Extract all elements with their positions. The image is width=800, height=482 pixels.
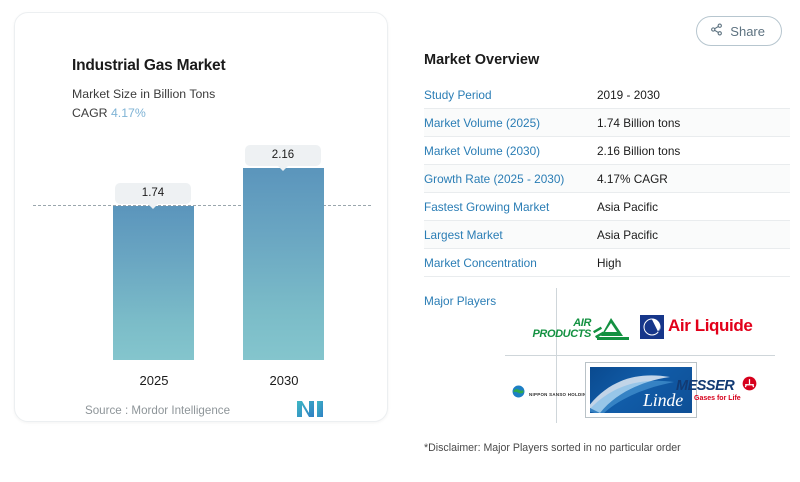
row-label: Study Period <box>424 88 597 102</box>
table-row: Growth Rate (2025 - 2030) 4.17% CAGR <box>424 165 790 193</box>
air-products-mountain-icon <box>593 316 633 347</box>
row-value: 4.17% CAGR <box>597 172 668 186</box>
table-row: Market Concentration High <box>424 249 790 277</box>
source-label: Source : <box>85 404 128 417</box>
table-row: Largest Market Asia Pacific <box>424 221 790 249</box>
bar-value-label-2030: 2.16 <box>245 145 321 166</box>
logo-air-products: AIR PRODUCTS <box>513 312 635 348</box>
bar-2025[interactable] <box>113 206 194 360</box>
nippon-sanso-globe-icon <box>512 385 525 403</box>
row-label: Growth Rate (2025 - 2030) <box>424 172 597 186</box>
bar-chart-plot: 1.74 2.16 2025 2030 <box>15 13 389 423</box>
table-row: Study Period 2019 - 2030 <box>424 81 790 109</box>
nippon-sanso-wordmark: NIPPON SANSO HOLDINGS <box>529 392 593 397</box>
table-row: Market Volume (2030) 2.16 Billion tons <box>424 137 790 165</box>
row-label: Market Concentration <box>424 256 597 270</box>
row-label: Fastest Growing Market <box>424 200 597 214</box>
x-tick-2025: 2025 <box>109 373 199 388</box>
air-products-wordmark: AIR PRODUCTS <box>513 318 591 339</box>
air-liquide-wordmark: Air Liquide <box>668 316 752 336</box>
messer-wordmark: MESSER <box>676 378 734 394</box>
logo-grid-horizontal-divider <box>505 355 775 356</box>
table-row: Fastest Growing Market Asia Pacific <box>424 193 790 221</box>
air-products-line2: PRODUCTS <box>532 328 591 340</box>
bar-value-label-2025: 1.74 <box>115 183 191 204</box>
air-liquide-circle-icon <box>640 315 664 344</box>
disclaimer-text: *Disclaimer: Major Players sorted in no … <box>424 442 681 454</box>
bar-2030[interactable] <box>243 168 324 360</box>
panel-title: Market Overview <box>424 52 539 68</box>
table-row: Market Volume (2025) 1.74 Billion tons <box>424 109 790 137</box>
messer-tagline: Gases for Life <box>694 395 741 402</box>
messer-circle-icon <box>742 376 757 396</box>
row-label: Largest Market <box>424 228 597 242</box>
x-tick-2030: 2030 <box>239 373 329 388</box>
row-label: Market Volume (2025) <box>424 116 597 130</box>
bars-area <box>15 13 389 360</box>
infographic-root: Industrial Gas Market Market Size in Bil… <box>0 0 800 482</box>
logo-messer: MESSER Gases for Life <box>676 376 771 410</box>
major-players-label: Major Players <box>424 294 496 308</box>
row-value: 2.16 Billion tons <box>597 144 680 158</box>
mordor-intelligence-logo <box>297 400 323 423</box>
source-value: Mordor Intelligence <box>131 404 230 417</box>
row-label: Market Volume (2030) <box>424 144 597 158</box>
row-value: High <box>597 256 621 270</box>
row-value: Asia Pacific <box>597 228 658 242</box>
row-value: Asia Pacific <box>597 200 658 214</box>
row-value: 1.74 Billion tons <box>597 116 680 130</box>
row-value: 2019 - 2030 <box>597 88 660 102</box>
chart-card: Industrial Gas Market Market Size in Bil… <box>14 12 388 422</box>
overview-table: Study Period 2019 - 2030 Market Volume (… <box>424 81 790 277</box>
chart-source: Source : Mordor Intelligence <box>85 404 230 417</box>
logo-air-liquide: Air Liquide <box>640 313 760 345</box>
